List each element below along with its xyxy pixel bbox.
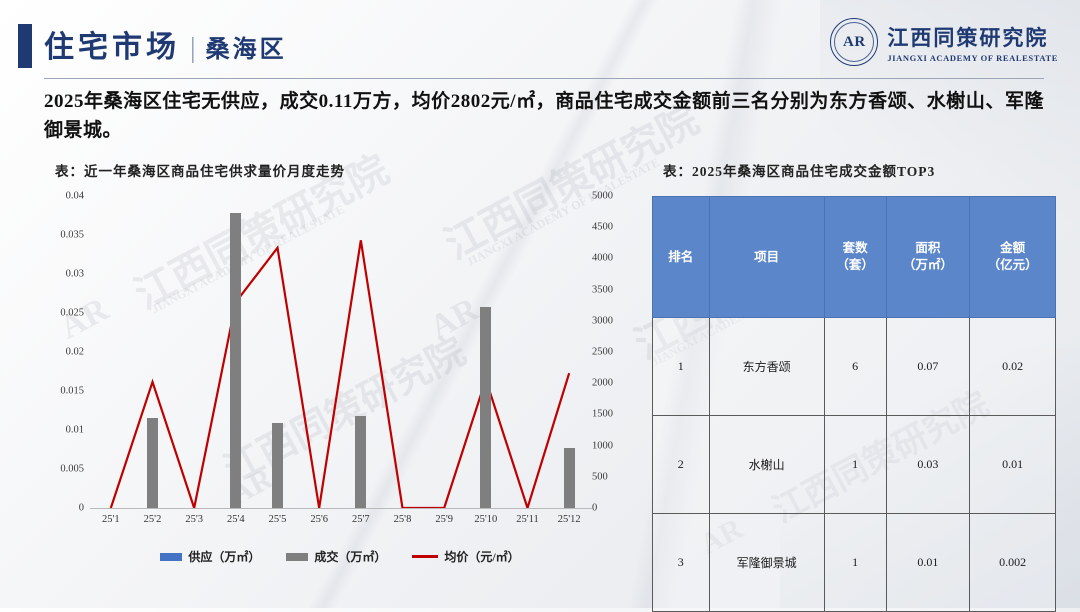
table-cell-units: 1	[824, 416, 886, 514]
chart-y-axis-left: 00.0050.010.0150.020.0250.030.0350.04	[40, 196, 88, 508]
table-cell-area: 0.07	[886, 318, 970, 416]
table-header-units: 套数（套）	[824, 197, 886, 318]
chart-y-axis-right: 0500100015002000250030003500400045005000	[590, 196, 636, 508]
table-caption: 表：2025年桑海区商品住宅成交金额TOP3	[663, 160, 935, 180]
x-axis-tick-label: 25'8	[394, 514, 412, 525]
table-cell-project: 东方香颂	[709, 318, 824, 416]
x-axis-tick-label: 25'6	[310, 514, 328, 525]
y-axis-right-tick: 3000	[592, 315, 613, 326]
page-title: 住宅市场 | 桑海区	[44, 22, 287, 66]
y-axis-left-tick: 0.035	[60, 230, 84, 241]
table-header-area: 面积（万㎡）	[886, 197, 970, 318]
table-cell-area: 0.03	[886, 416, 970, 514]
logo-mark-text: AR	[843, 34, 866, 51]
title-accent-bar	[18, 24, 32, 68]
table-cell-area: 0.01	[886, 514, 970, 612]
legend-item[interactable]: 均价（元/㎡）	[412, 548, 519, 565]
legend-label: 供应（万㎡）	[188, 548, 260, 565]
table-cell-units: 1	[824, 514, 886, 612]
chart-bar	[355, 416, 366, 508]
chart-bar	[480, 307, 491, 508]
y-axis-left-tick: 0.02	[66, 347, 84, 358]
x-axis-tick-label: 25'5	[269, 514, 287, 525]
y-axis-right-tick: 2500	[592, 347, 613, 358]
chart-bar	[272, 423, 283, 508]
x-axis-tick-label: 25'7	[352, 514, 370, 525]
summary-paragraph: 2025年桑海区住宅无供应，成交0.11万方，均价2802元/㎡，商品住宅成交金…	[44, 88, 1044, 145]
top3-table: 排名 项目 套数（套） 面积（万㎡） 金额（亿元） 1东方香颂60.070.02…	[652, 196, 1056, 612]
table-header-rank: 排名	[653, 197, 710, 318]
table-cell-project: 水榭山	[709, 416, 824, 514]
header-divider	[44, 78, 1044, 79]
brand-logo: AR 江西同策研究院 JIANGXI ACADEMY OF REALESTATE	[830, 18, 1058, 66]
x-axis-tick-label: 25'9	[435, 514, 453, 525]
legend-swatch-icon	[160, 553, 182, 561]
table-row: 1东方香颂60.070.02	[653, 318, 1056, 416]
chart-bar	[230, 213, 241, 508]
y-axis-left-tick: 0.015	[60, 386, 84, 397]
average-price-line	[90, 196, 590, 508]
table-header-row: 排名 项目 套数（套） 面积（万㎡） 金额（亿元）	[653, 197, 1056, 318]
table-cell-amount: 0.02	[970, 318, 1056, 416]
table-cell-project: 军隆御景城	[709, 514, 824, 612]
chart-x-axis-labels: 25'125'225'325'425'525'625'725'825'925'1…	[90, 514, 590, 532]
x-axis-tick-label: 25'11	[516, 514, 539, 525]
y-axis-left-tick: 0	[79, 503, 84, 514]
y-axis-right-tick: 4500	[592, 222, 613, 233]
chart-caption: 表：近一年桑海区商品住宅供求量价月度走势	[55, 160, 345, 180]
legend-swatch-icon	[286, 553, 308, 561]
y-axis-left-tick: 0.04	[66, 191, 84, 202]
table-cell-amount: 0.01	[970, 416, 1056, 514]
chart-bar	[147, 418, 158, 508]
logo-name-en: JIANGXI ACADEMY OF REALESTATE	[887, 53, 1058, 63]
table-row: 3军隆御景城10.010.002	[653, 514, 1056, 612]
legend-label: 成交（万㎡）	[314, 548, 386, 565]
title-separator: |	[190, 33, 196, 65]
table-cell-rank: 3	[653, 514, 710, 612]
table-row: 2水榭山10.030.01	[653, 416, 1056, 514]
table-cell-rank: 2	[653, 416, 710, 514]
y-axis-right-tick: 2000	[592, 378, 613, 389]
x-axis-tick-label: 25'2	[144, 514, 162, 525]
x-axis-tick-label: 25'4	[227, 514, 245, 525]
y-axis-left-tick: 0.005	[60, 464, 84, 475]
chart-x-axis	[90, 508, 592, 509]
y-axis-right-tick: 1000	[592, 440, 613, 451]
chart-bar	[564, 448, 575, 508]
logo-seal-icon: AR	[830, 18, 878, 66]
y-axis-left-tick: 0.03	[66, 269, 84, 280]
legend-swatch-icon	[412, 555, 438, 558]
y-axis-right-tick: 4000	[592, 253, 613, 264]
legend-label: 均价（元/㎡）	[444, 548, 519, 565]
x-axis-tick-label: 25'3	[185, 514, 203, 525]
y-axis-left-tick: 0.025	[60, 308, 84, 319]
chart-plot-area	[90, 196, 590, 508]
table-header-project: 项目	[709, 197, 824, 318]
table-cell-amount: 0.002	[970, 514, 1056, 612]
y-axis-right-tick: 0	[592, 503, 597, 514]
legend-item[interactable]: 供应（万㎡）	[160, 548, 260, 565]
table-cell-units: 6	[824, 318, 886, 416]
legend-item[interactable]: 成交（万㎡）	[286, 548, 386, 565]
page-title-sub: 桑海区	[206, 29, 287, 64]
x-axis-tick-label: 25'10	[474, 514, 497, 525]
y-axis-right-tick: 1500	[592, 409, 613, 420]
y-axis-left-tick: 0.01	[66, 425, 84, 436]
chart-legend: 供应（万㎡）成交（万㎡）均价（元/㎡）	[90, 548, 590, 565]
x-axis-tick-label: 25'1	[102, 514, 120, 525]
y-axis-right-tick: 500	[592, 471, 608, 482]
page-title-main: 住宅市场	[44, 22, 180, 66]
y-axis-right-tick: 5000	[592, 191, 613, 202]
logo-name-cn: 江西同策研究院	[887, 22, 1058, 52]
table-header-amount: 金额（亿元）	[970, 197, 1056, 318]
supply-demand-price-chart: 00.0050.010.0150.020.0250.030.0350.04 05…	[40, 196, 605, 536]
x-axis-tick-label: 25'12	[558, 514, 581, 525]
y-axis-right-tick: 3500	[592, 284, 613, 295]
logo-text-block: 江西同策研究院 JIANGXI ACADEMY OF REALESTATE	[887, 22, 1058, 63]
table-cell-rank: 1	[653, 318, 710, 416]
